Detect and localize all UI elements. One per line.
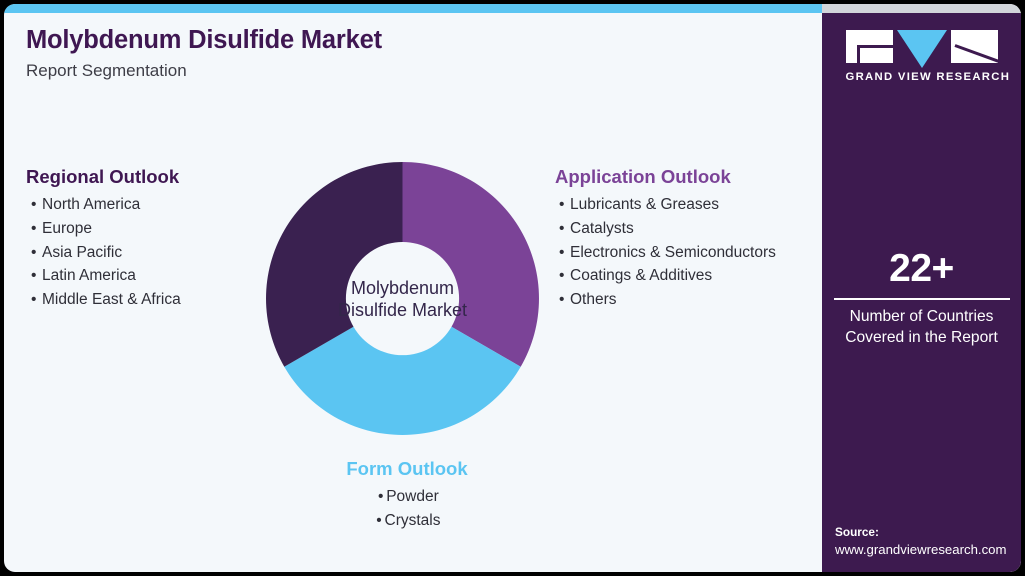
list-item: Others [559,288,776,312]
infographic-card: Molybdenum Disulfide Market Report Segme… [4,4,1021,572]
stat-label-line-2: Covered in the Report [834,327,1010,348]
brand-panel: GRAND VIEW RESEARCH 22+ Number of Countr… [822,13,1021,572]
list-item: Catalysts [559,217,776,241]
regional-outlook-list: North America Europe Asia Pacific Latin … [26,193,181,312]
donut-segment-application [403,162,539,367]
regional-outlook-heading: Regional Outlook [26,166,181,188]
stat-divider [834,298,1010,300]
list-item: Middle East & Africa [31,288,181,312]
accent-stripe [4,4,822,13]
stat-value: 22+ [834,249,1010,288]
application-outlook-heading: Application Outlook [555,166,776,188]
header: Molybdenum Disulfide Market Report Segme… [26,26,786,81]
list-item: Latin America [31,264,181,288]
form-outlook-section: Form Outlook Powder Crystals [287,458,527,533]
list-item: Electronics & Semiconductors [559,241,776,265]
logo-wordmark: GRAND VIEW RESEARCH [846,71,998,83]
page-title: Molybdenum Disulfide Market [26,26,786,55]
donut-segment-regional [266,162,402,367]
source-label: Source: [835,524,1007,541]
list-item: Asia Pacific [31,241,181,265]
letter-g-icon [846,30,893,63]
donut-chart-svg [261,157,544,440]
donut-chart: Molybdenum Disulfide Market [261,157,544,440]
letter-r-icon [951,30,998,63]
list-item: Crystals [287,509,527,533]
list-item: Powder [287,485,527,509]
list-item: Europe [31,217,181,241]
form-outlook-list: Powder Crystals [287,485,527,532]
grand-view-research-logo: GRAND VIEW RESEARCH [846,30,998,83]
letter-v-icon [897,30,947,68]
accent-stripe-gap [822,4,1021,13]
application-outlook-list: Lubricants & Greases Catalysts Electroni… [555,193,776,312]
logo-marks [846,30,998,63]
countries-stat-block: 22+ Number of Countries Covered in the R… [834,249,1010,348]
form-outlook-heading: Form Outlook [287,458,527,480]
list-item: Lubricants & Greases [559,193,776,217]
source-url[interactable]: www.grandviewresearch.com [835,541,1007,559]
regional-outlook-section: Regional Outlook North America Europe As… [26,166,181,312]
page-subtitle: Report Segmentation [26,61,786,81]
list-item: Coatings & Additives [559,264,776,288]
list-item: North America [31,193,181,217]
stat-label-line-1: Number of Countries [834,306,1010,327]
application-outlook-section: Application Outlook Lubricants & Greases… [555,166,776,312]
source-block: Source: www.grandviewresearch.com [835,524,1007,559]
